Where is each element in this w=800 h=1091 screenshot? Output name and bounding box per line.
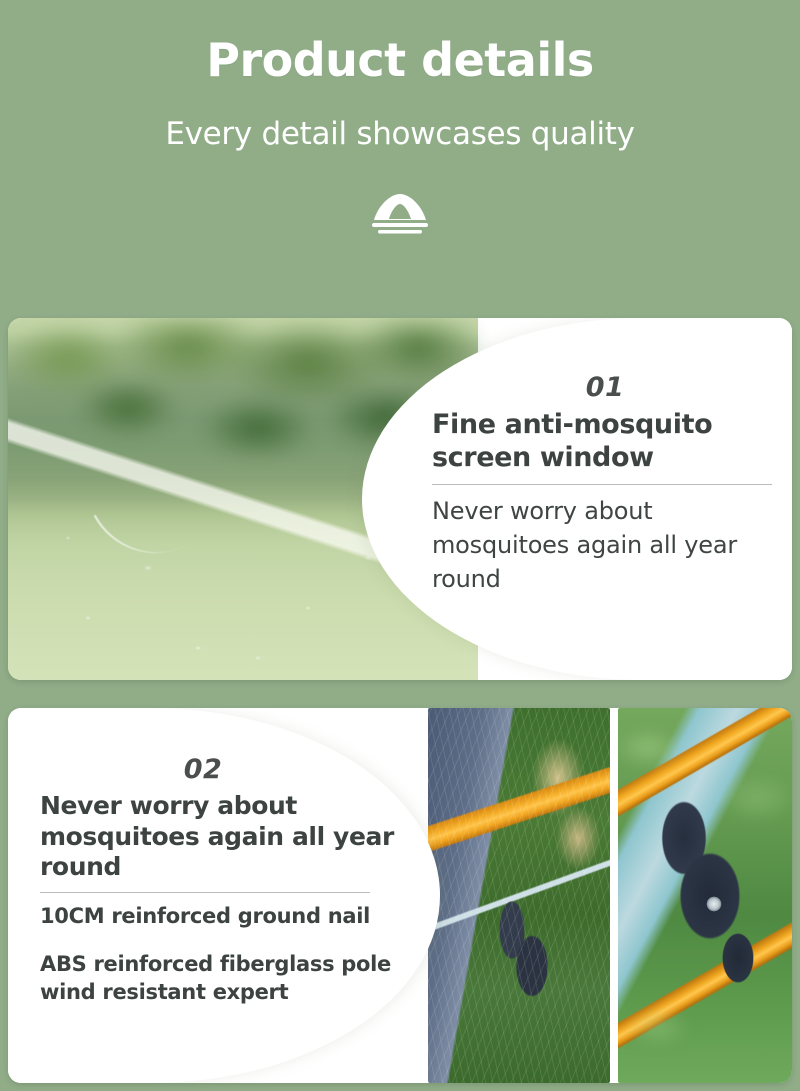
card-02-text-block: 02 Never worry about mosquitoes again al…	[40, 756, 406, 1007]
page-header: Product details Every detail showcases q…	[0, 0, 800, 236]
detail-card-02[interactable]: 02 Never worry about mosquitoes again al…	[8, 708, 792, 1083]
page-title: Product details	[0, 36, 800, 84]
card-02-number: 02	[40, 756, 406, 783]
detail-card-01[interactable]: 01 Fine anti-mosquito screen window Neve…	[8, 318, 792, 680]
card-01-divider	[432, 484, 772, 485]
card-01-body: Never worry about mosquitoes again all y…	[432, 494, 778, 596]
pole-joint-photo	[618, 708, 792, 1083]
page-subtitle: Every detail showcases quality	[0, 116, 800, 152]
card-01-heading: Fine anti-mosquito screen window	[432, 409, 778, 475]
card-02-spec-1: 10CM reinforced ground nail	[40, 902, 406, 930]
ground-nail-photo	[428, 708, 610, 1083]
card-01-text-block: 01 Fine anti-mosquito screen window Neve…	[432, 374, 778, 596]
card-02-spec-2: ABS reinforced fiberglass pole wind resi…	[40, 950, 406, 1007]
tent-icon	[370, 192, 430, 236]
card-01-number: 01	[432, 374, 778, 401]
tent-icon-container	[0, 192, 800, 236]
card-02-divider	[40, 892, 370, 893]
card-02-heading: Never worry about mosquitoes again all y…	[40, 791, 406, 883]
